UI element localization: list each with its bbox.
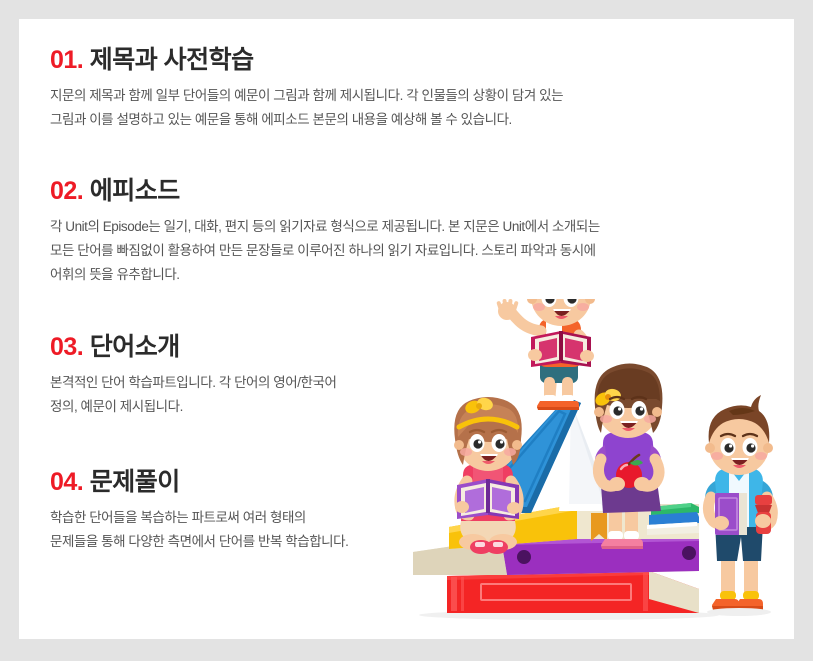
boy-top-head (527, 299, 595, 326)
content-card: 01. 제목과 사전학습 지문의 제목과 함께 일부 단어들의 예문이 그림과 … (19, 19, 794, 639)
section-01-body: 지문의 제목과 함께 일부 단어들의 예문이 그림과 함께 제시됩니다. 각 인… (50, 84, 690, 132)
section-03: 03. 단어소개 본격적인 단어 학습파트입니다. 각 단어의 영어/한국어 정… (50, 334, 430, 419)
section-02-number: 02. (50, 177, 83, 205)
section-03-number: 03. (50, 333, 83, 361)
section-03-body: 본격적인 단어 학습파트입니다. 각 단어의 영어/한국어 정의, 예문이 제시… (50, 371, 430, 419)
section-01-title: 제목과 사전학습 (90, 46, 254, 74)
section-01: 01. 제목과 사전학습 지문의 제목과 함께 일부 단어들의 예문이 그림과 … (50, 47, 690, 132)
section-02-heading: 02. 에피소드 (50, 178, 690, 206)
binder-ring-2 (682, 546, 696, 560)
sock-right (624, 531, 639, 540)
section-04-body: 학습한 단어들을 복습하는 파트로써 여러 형태의 문제들을 통해 다양한 측면… (50, 506, 430, 554)
character-girl-left-reading (454, 396, 522, 554)
boy-right-head (705, 395, 773, 475)
section-03-title: 단어소개 (90, 333, 180, 361)
section-04-title: 문제풀이 (90, 468, 180, 496)
section-04-number: 04. (50, 468, 83, 496)
character-boy-right-standing (705, 395, 773, 610)
boy-top-book (528, 331, 594, 367)
girl-left-book (455, 479, 521, 519)
boy-right-shadow (707, 608, 771, 616)
section-04-heading: 04. 문제풀이 (50, 469, 430, 497)
section-03-heading: 03. 단어소개 (50, 334, 430, 362)
section-02-body: 각 Unit의 Episode는 일기, 대화, 편지 등의 읽기자료 형식으로… (50, 215, 690, 287)
character-boy-top-waving (496, 299, 595, 410)
girl-mid-head (593, 364, 662, 439)
kids-reading-on-book-stack-illustration (399, 299, 794, 639)
book-bottom-red (447, 571, 699, 613)
sock-left (608, 531, 623, 540)
section-01-number: 01. (50, 46, 83, 74)
section-04: 04. 문제풀이 학습한 단어들을 복습하는 파트로써 여러 형태의 문제들을 … (50, 469, 430, 554)
section-02: 02. 에피소드 각 Unit의 Episode는 일기, 대화, 편지 등의 … (50, 178, 690, 287)
sock-right (743, 591, 759, 600)
binder-ring-1 (517, 550, 531, 564)
screenshot-root: 01. 제목과 사전학습 지문의 제목과 함께 일부 단어들의 예문이 그림과 … (0, 0, 813, 661)
girl-left-head (454, 396, 522, 471)
section-02-title: 에피소드 (90, 177, 180, 205)
sock-left (720, 591, 736, 600)
section-01-heading: 01. 제목과 사전학습 (50, 47, 690, 75)
